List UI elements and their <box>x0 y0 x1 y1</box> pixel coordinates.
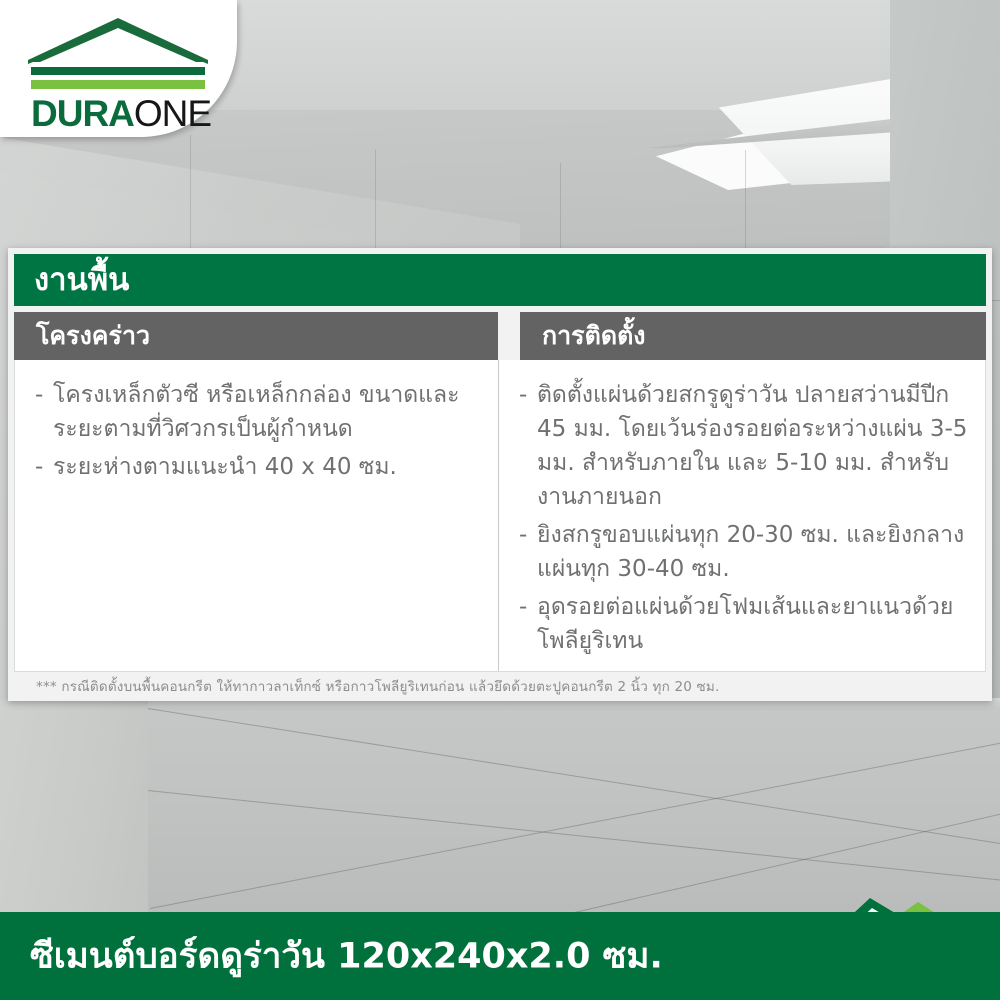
card-header: งานพื้น <box>14 254 986 306</box>
logo-word-one: ONE <box>134 93 211 134</box>
list-item: ระยะห่างตามแนะนำ 40 x 40 ซม. <box>33 450 484 484</box>
info-card: งานพื้น โครงคร่าว การติดตั้ง โครงเหล็กตั… <box>8 248 992 701</box>
product-title: ซีเมนต์บอร์ดดูร่าวัน 120x240x2.0 ซม. <box>30 929 663 984</box>
column-framework: โครงเหล็กตัวซี หรือเหล็กกล่อง ขนาดและระย… <box>15 360 499 671</box>
column-header-installation: การติดตั้ง <box>520 312 986 360</box>
list-item: อุดรอยต่อแผ่นด้วยโฟมเส้นและยาแนวด้วยโพลี… <box>517 590 971 658</box>
logo-wordmark: DURAONE <box>31 94 208 134</box>
column-header-divider <box>498 312 520 360</box>
floor-left-panel <box>0 700 148 930</box>
column-header-row: โครงคร่าว การติดตั้ง <box>14 312 986 360</box>
card-body: โครงเหล็กตัวซี หรือเหล็กกล่อง ขนาดและระย… <box>14 360 986 672</box>
list-item: ยิงสกรูขอบแผ่นทุก 20-30 ซม. และยิงกลางแผ… <box>517 518 971 586</box>
list-item: โครงเหล็กตัวซี หรือเหล็กกล่อง ขนาดและระย… <box>33 378 484 446</box>
card-title: งานพื้น <box>34 263 129 297</box>
installation-bullet-list: ติดตั้งแผ่นด้วยสกรูดูร่าวัน ปลายสว่านมีป… <box>517 378 971 658</box>
column-header-framework: โครงคร่าว <box>14 312 498 360</box>
column-header-framework-label: โครงคร่าว <box>36 316 150 356</box>
logo-bar-dark <box>31 67 205 75</box>
column-installation: ติดตั้งแผ่นด้วยสกรูดูร่าวัน ปลายสว่านมีป… <box>499 360 985 671</box>
logo-panel: DURAONE <box>0 0 237 137</box>
floor-surface <box>0 700 1000 930</box>
list-item: ติดตั้งแผ่นด้วยสกรูดูร่าวัน ปลายสว่านมีป… <box>517 378 971 514</box>
roof-chevron-icon <box>28 18 208 64</box>
logo-word-dura: DURA <box>31 93 134 134</box>
column-header-installation-label: การติดตั้ง <box>542 316 646 356</box>
bottom-banner: ซีเมนต์บอร์ดดูร่าวัน 120x240x2.0 ซม. <box>0 912 1000 1000</box>
framework-bullet-list: โครงเหล็กตัวซี หรือเหล็กกล่อง ขนาดและระย… <box>33 378 484 484</box>
logo-bar-light <box>31 80 205 89</box>
card-footnote: *** กรณีติดตั้งบนพื้นคอนกรีต ให้ทากาวลาเ… <box>14 672 986 699</box>
